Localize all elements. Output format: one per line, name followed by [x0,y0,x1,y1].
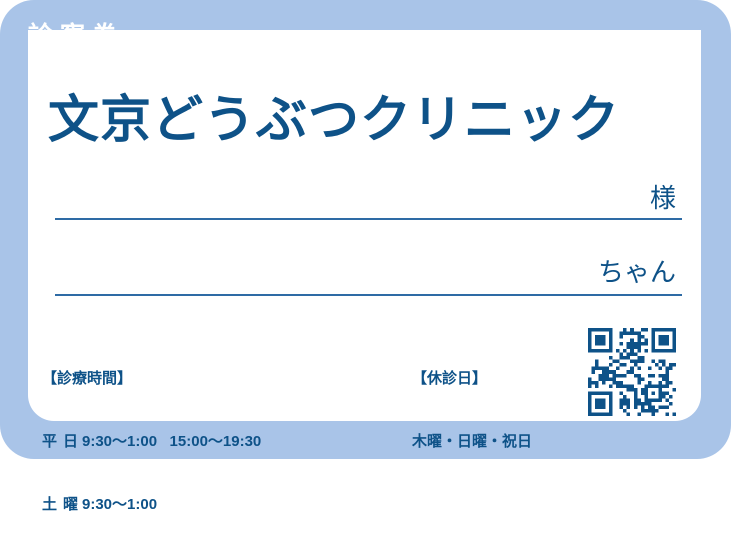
hours-row-weekday: 平日9:30〜1:00 15:00〜19:30 [42,431,261,452]
pet-name-rule [55,294,682,296]
hours-times-saturday: 9:30〜1:00 [82,496,157,513]
closed-days-value: 木曜・日曜・祝日 [412,431,532,452]
consultation-hours-block: 【診療時間】 平日9:30〜1:00 15:00〜19:30 土曜9:30〜1:… [42,326,261,557]
owner-name-suffix: 様 [650,183,682,213]
clinic-name-title: 文京どうぶつクリニック [48,78,620,152]
card-content: 文京どうぶつクリニック 様 ちゃん 【診療時間】 平日9:30〜1:00 15:… [0,0,731,459]
consultation-hours-heading: 【診療時間】 [42,368,261,389]
owner-name-row: 様 [55,178,682,215]
qr-code-icon [588,328,676,416]
hours-times-weekday: 9:30〜1:00 15:00〜19:30 [82,433,261,450]
closed-days-heading: 【休診日】 [412,368,532,389]
closed-days-block: 【休診日】 木曜・日曜・祝日 [412,326,532,494]
hours-day-weekday: 平日 [42,431,82,452]
owner-name-rule [55,218,682,220]
hours-day-saturday: 土曜 [42,494,82,515]
pet-name-row: ちゃん [55,252,682,289]
hours-row-saturday: 土曜9:30〜1:00 [42,494,261,515]
pet-name-suffix: ちゃん [598,257,682,287]
